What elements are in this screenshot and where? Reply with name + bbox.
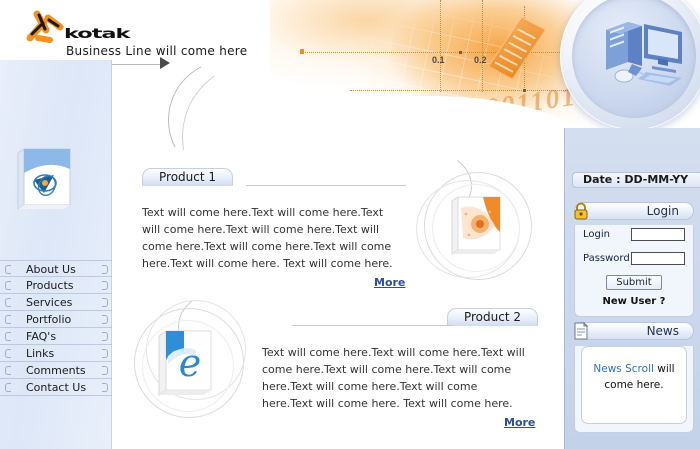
new-user-link[interactable]: New User ? (575, 296, 693, 307)
product-box-icon (14, 143, 76, 215)
sidebar-item-links[interactable]: Links (0, 345, 112, 362)
sidebar-item-label: Comments (26, 364, 86, 377)
grid-axis-vertical-2 (482, 0, 483, 92)
bracket-right-icon (102, 332, 108, 341)
login-panel: Login Login Password Submit New User ? (574, 202, 694, 317)
bracket-left-icon (5, 383, 11, 392)
computer-workstation-icon (598, 14, 690, 94)
bracket-left-icon (5, 332, 11, 341)
bracket-right-icon (102, 366, 108, 375)
login-username-label: Login (583, 229, 631, 240)
bracket-left-icon (5, 298, 11, 307)
bracket-left-icon (5, 366, 11, 375)
bracket-right-icon (102, 281, 108, 290)
date-display: Date : DD-MM-YY (572, 172, 700, 188)
product-1-tab[interactable]: Product 1 (142, 168, 233, 186)
bracket-right-icon (102, 265, 108, 274)
left-sidebar: About Us Products Services Portfolio FAQ (0, 60, 112, 449)
sidebar-item-faqs[interactable]: FAQ's (0, 328, 112, 345)
product-2-more-link[interactable]: More (504, 416, 535, 429)
bracket-left-icon (5, 349, 11, 358)
bracket-right-icon (102, 383, 108, 392)
arrow-head-icon (160, 57, 170, 69)
lock-icon (571, 201, 591, 221)
sidebar-item-contact-us[interactable]: Contact Us (0, 379, 112, 396)
news-panel-title: News (647, 324, 679, 338)
login-panel-title: Login (647, 204, 679, 218)
sidebar-item-services[interactable]: Services (0, 294, 112, 311)
product-2-body: Text will come here.Text will come here.… (262, 344, 528, 412)
orange-product-box-icon (449, 192, 507, 262)
main-navigation: About Us Products Services Portfolio FAQ (0, 260, 112, 396)
grid-axis-vertical-1 (440, 0, 441, 92)
news-panel-header: News (574, 322, 694, 340)
sidebar-item-comments[interactable]: Comments (0, 362, 112, 379)
news-panel-body: News Scroll will come here. (574, 346, 694, 433)
bracket-left-icon (5, 281, 11, 290)
sidebar-item-label: Portfolio (26, 313, 71, 326)
bracket-left-icon (5, 315, 11, 324)
main-content: Product 1 Text will come here.Text will … (112, 150, 564, 449)
login-password-label: Password (583, 253, 631, 264)
sidebar-item-label: Links (26, 347, 54, 360)
product-1-body: Text will come here.Text will come here.… (142, 204, 400, 272)
grid-tick-1 (459, 51, 462, 54)
news-scroll-box: News Scroll will come here. (581, 346, 687, 424)
login-username-row: Login (583, 225, 693, 244)
sidebar-item-label: About Us (26, 263, 76, 276)
svg-text:e: e (179, 341, 202, 385)
login-password-row: Password (583, 249, 693, 268)
sidebar-item-label: FAQ's (26, 330, 56, 343)
login-password-input[interactable] (631, 252, 685, 265)
bracket-right-icon (102, 315, 108, 324)
news-panel: News News Scroll will come here. (574, 322, 694, 433)
product-2-rule (292, 325, 452, 326)
sidebar-item-label: Contact Us (26, 381, 86, 394)
page-root: 0.1 0.2 1001101 (0, 0, 700, 449)
login-panel-body: Login Password Submit New User ? (574, 225, 694, 317)
hero-badge-inner (572, 0, 696, 118)
bracket-left-icon (5, 265, 11, 274)
sidebar-item-products[interactable]: Products (0, 277, 112, 294)
login-submit-button[interactable]: Submit (606, 275, 661, 290)
sidebar-item-portfolio[interactable]: Portfolio (0, 311, 112, 328)
document-icon (571, 321, 591, 341)
blue-e-product-box-icon: e (156, 326, 218, 402)
product-2-tab[interactable]: Product 2 (447, 308, 538, 326)
news-accent-text: News Scroll (593, 363, 654, 375)
sidebar-item-label: Products (26, 279, 74, 292)
axis-label-0-1: 0.1 (432, 55, 445, 65)
grid-tick-origin (300, 49, 304, 54)
news-text: News Scroll will come here. (590, 361, 678, 393)
product-1-more-link[interactable]: More (374, 276, 405, 289)
bracket-right-icon (102, 349, 108, 358)
login-username-input[interactable] (631, 228, 685, 241)
bracket-right-icon (102, 298, 108, 307)
axis-label-0-2: 0.2 (474, 55, 487, 65)
grid-axis-horizontal (300, 52, 590, 53)
sidebar-item-label: Services (26, 296, 72, 309)
sidebar-item-about-us[interactable]: About Us (0, 260, 112, 277)
login-panel-header: Login (574, 202, 694, 220)
